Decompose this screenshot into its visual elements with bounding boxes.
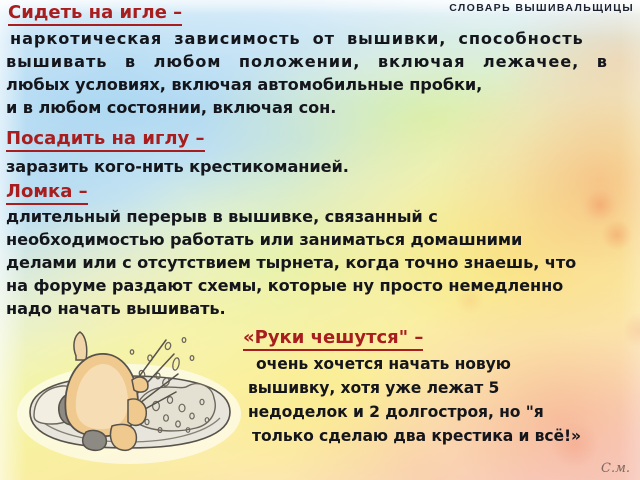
artist-signature: С.м. — [601, 461, 630, 476]
entry-term-sidet-na-igle: Сидеть на игле – — [8, 4, 182, 26]
entry-body-line: вышивку, хотя уже лежат 5 — [248, 380, 499, 396]
poster-kicker-title: СЛОВАРЬ ВЫШИВАЛЬЩИЦЫ — [449, 2, 634, 14]
entry-body-line: наркотическая зависимость от вышивки, сп… — [10, 30, 584, 47]
poster-canvas: СЛОВАРЬ ВЫШИВАЛЬЩИЦЫ Сидеть на игле – на… — [0, 0, 640, 480]
entry-body-line: любых условиях, включая автомобильные пр… — [6, 76, 482, 93]
entry-body-line: делами или с отсутствием тырнета, когда … — [6, 254, 576, 271]
entry-body-line: вышивать в любом положении, включая лежа… — [6, 53, 608, 70]
entry-term-posadit-na-iglu: Посадить на иглу – — [6, 130, 205, 152]
entry-body-line: на форуме раздают схемы, которые ну прос… — [6, 277, 563, 294]
entry-body-line: очень хочется начать новую — [256, 356, 511, 372]
entry-term-lomka: Ломка – — [6, 183, 88, 205]
entry-term-ruki-cheshutsya: «Руки чешутся" – — [243, 329, 423, 351]
entry-body-line: недоделок и 2 долгостроя, но "я — [248, 404, 544, 420]
entry-body-line: заразить кого-нить крестикоманией. — [6, 158, 349, 175]
entry-body-line: надо начать вышивать. — [6, 300, 226, 317]
entry-body-line: и в любом состоянии, включая сон. — [6, 99, 336, 116]
entry-body-line: необходимостью работать или заниматься д… — [6, 231, 522, 248]
entry-body-line: только сделаю два крестика и всё!» — [252, 428, 581, 444]
poster-content: СЛОВАРЬ ВЫШИВАЛЬЩИЦЫ Сидеть на игле – на… — [0, 0, 640, 480]
cat-digging-illustration — [16, 330, 242, 470]
entry-body-line: длительный перерыв в вышивке, связанный … — [6, 208, 438, 225]
